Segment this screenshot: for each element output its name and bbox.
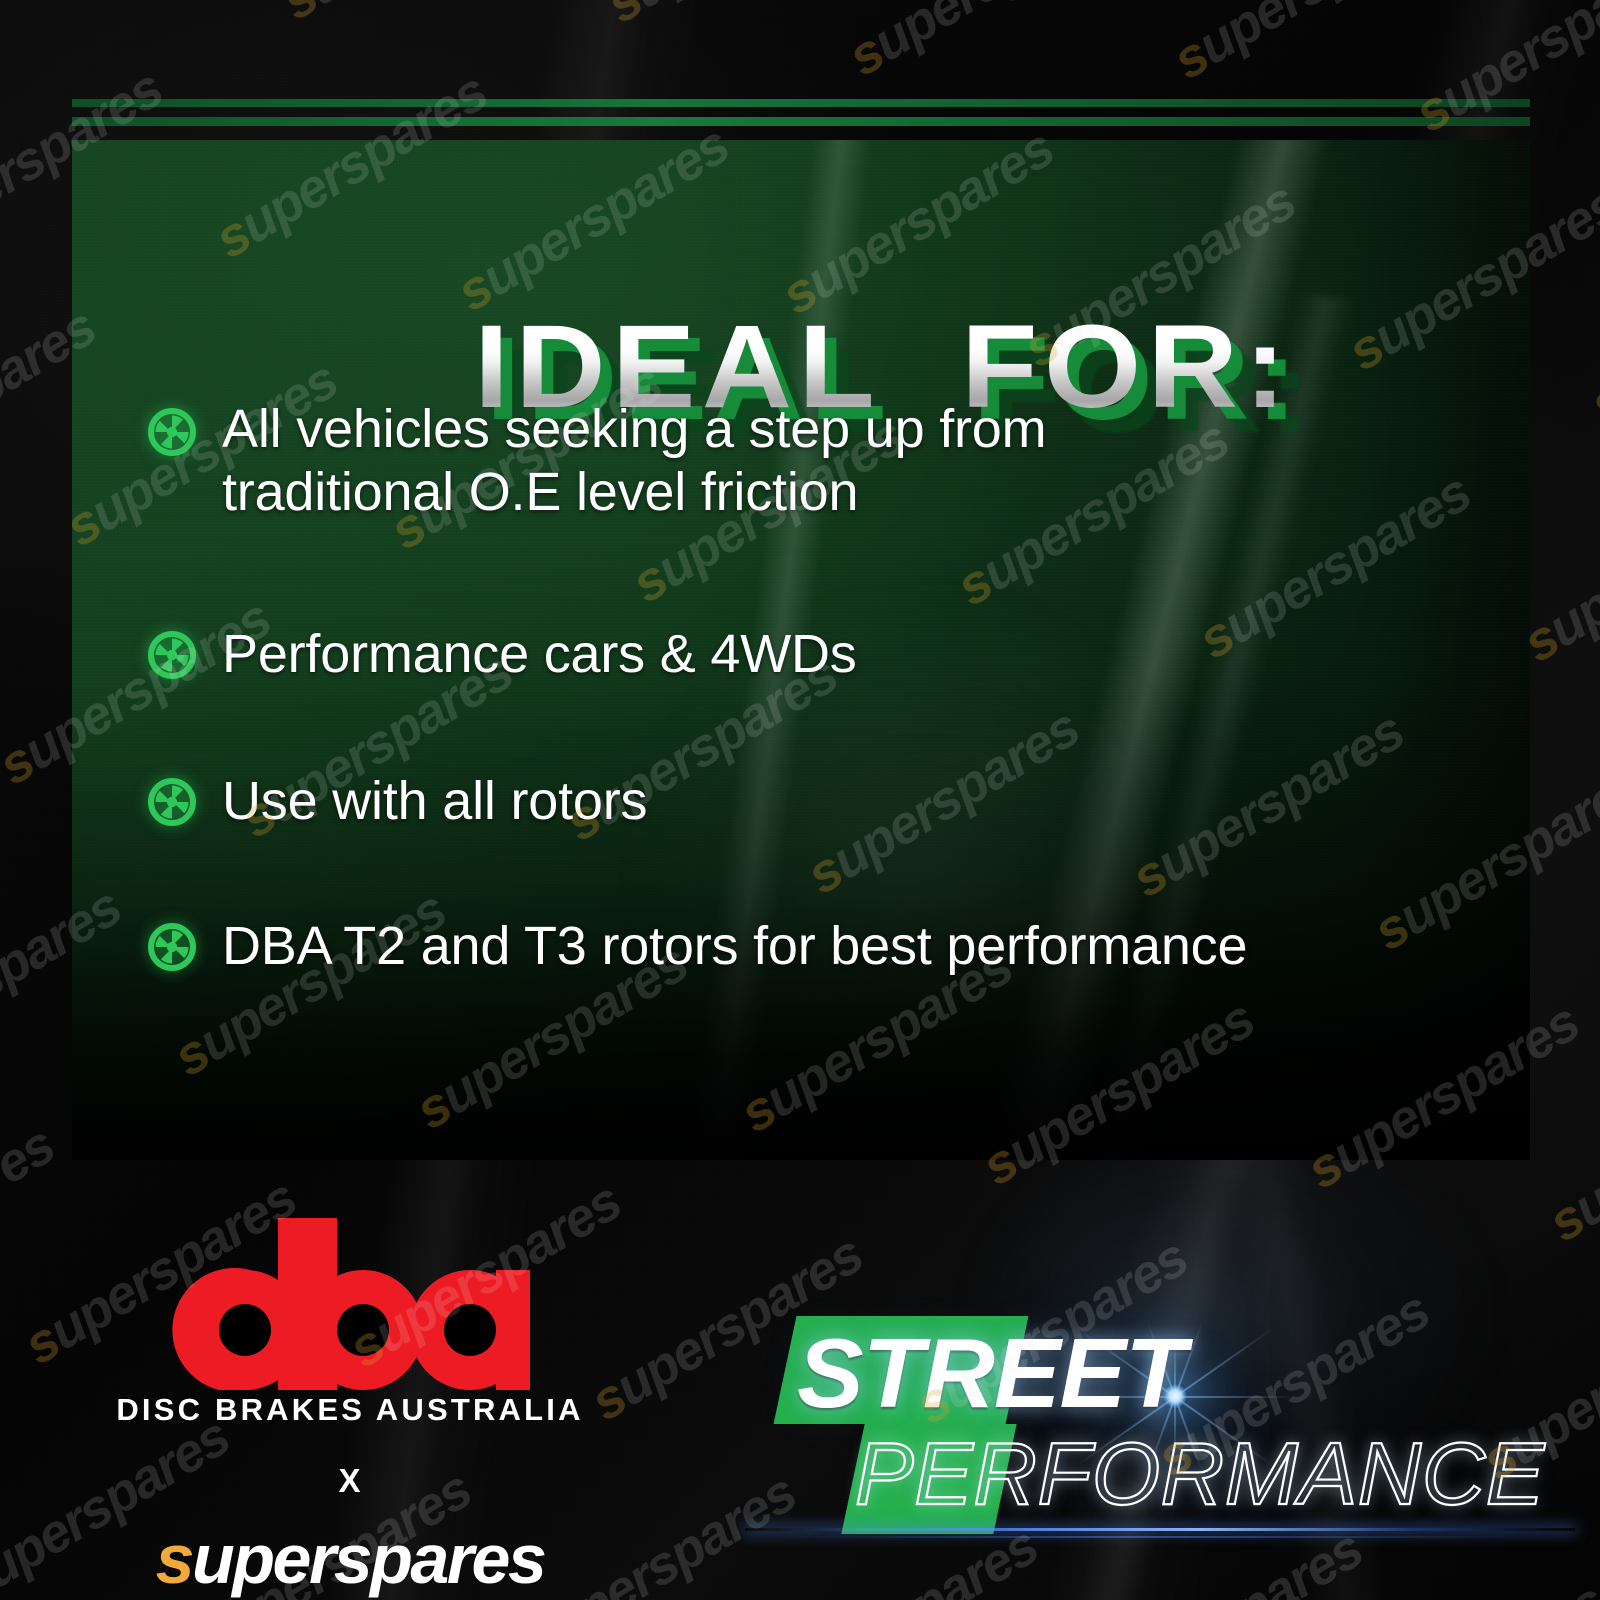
- list-item-label: DBA T2 and T3 rotors for best performanc…: [222, 915, 1247, 978]
- accent-stripe-top: [72, 99, 1530, 107]
- superspares-logo-rest: uperspares: [192, 1520, 544, 1598]
- list-item-label: Performance cars & 4WDs: [222, 623, 857, 686]
- performance-wordmark: PERFORMANCE: [855, 1430, 1545, 1518]
- wheel-rotor-icon: [148, 923, 196, 971]
- wheel-rotor-icon: [148, 408, 196, 456]
- banner-canvas: IDEAL FOR: All vehicles seeking a step u…: [0, 0, 1600, 1600]
- dba-logo: [170, 1218, 530, 1390]
- blue-accent-line: [745, 1528, 1575, 1531]
- feature-list: All vehicles seeking a step up from trad…: [148, 398, 1518, 977]
- brand-conjunction: X: [110, 1462, 590, 1500]
- list-item-label: Use with all rotors: [222, 770, 647, 833]
- blue-accent-line-secondary: [815, 1536, 1515, 1538]
- superspares-logo: superspares: [110, 1524, 590, 1594]
- street-wordmark: STREET: [797, 1324, 1185, 1422]
- list-item: Performance cars & 4WDs: [148, 623, 1518, 686]
- dba-brand-block: DISC BRAKES AUSTRALIA X superspares: [110, 1218, 590, 1594]
- list-item-label: All vehicles seeking a step up from trad…: [222, 398, 1046, 523]
- superspares-logo-initial: s: [156, 1520, 192, 1598]
- accent-stripe-second: [72, 117, 1530, 126]
- wheel-rotor-icon: [148, 631, 196, 679]
- list-item: DBA T2 and T3 rotors for best performanc…: [148, 915, 1518, 978]
- list-item: Use with all rotors: [148, 770, 1518, 833]
- dba-tagline: DISC BRAKES AUSTRALIA: [110, 1392, 590, 1428]
- street-performance-logo: STREET PERFORMANCE: [775, 1300, 1565, 1550]
- wheel-rotor-icon: [148, 778, 196, 826]
- list-item: All vehicles seeking a step up from trad…: [148, 398, 1518, 523]
